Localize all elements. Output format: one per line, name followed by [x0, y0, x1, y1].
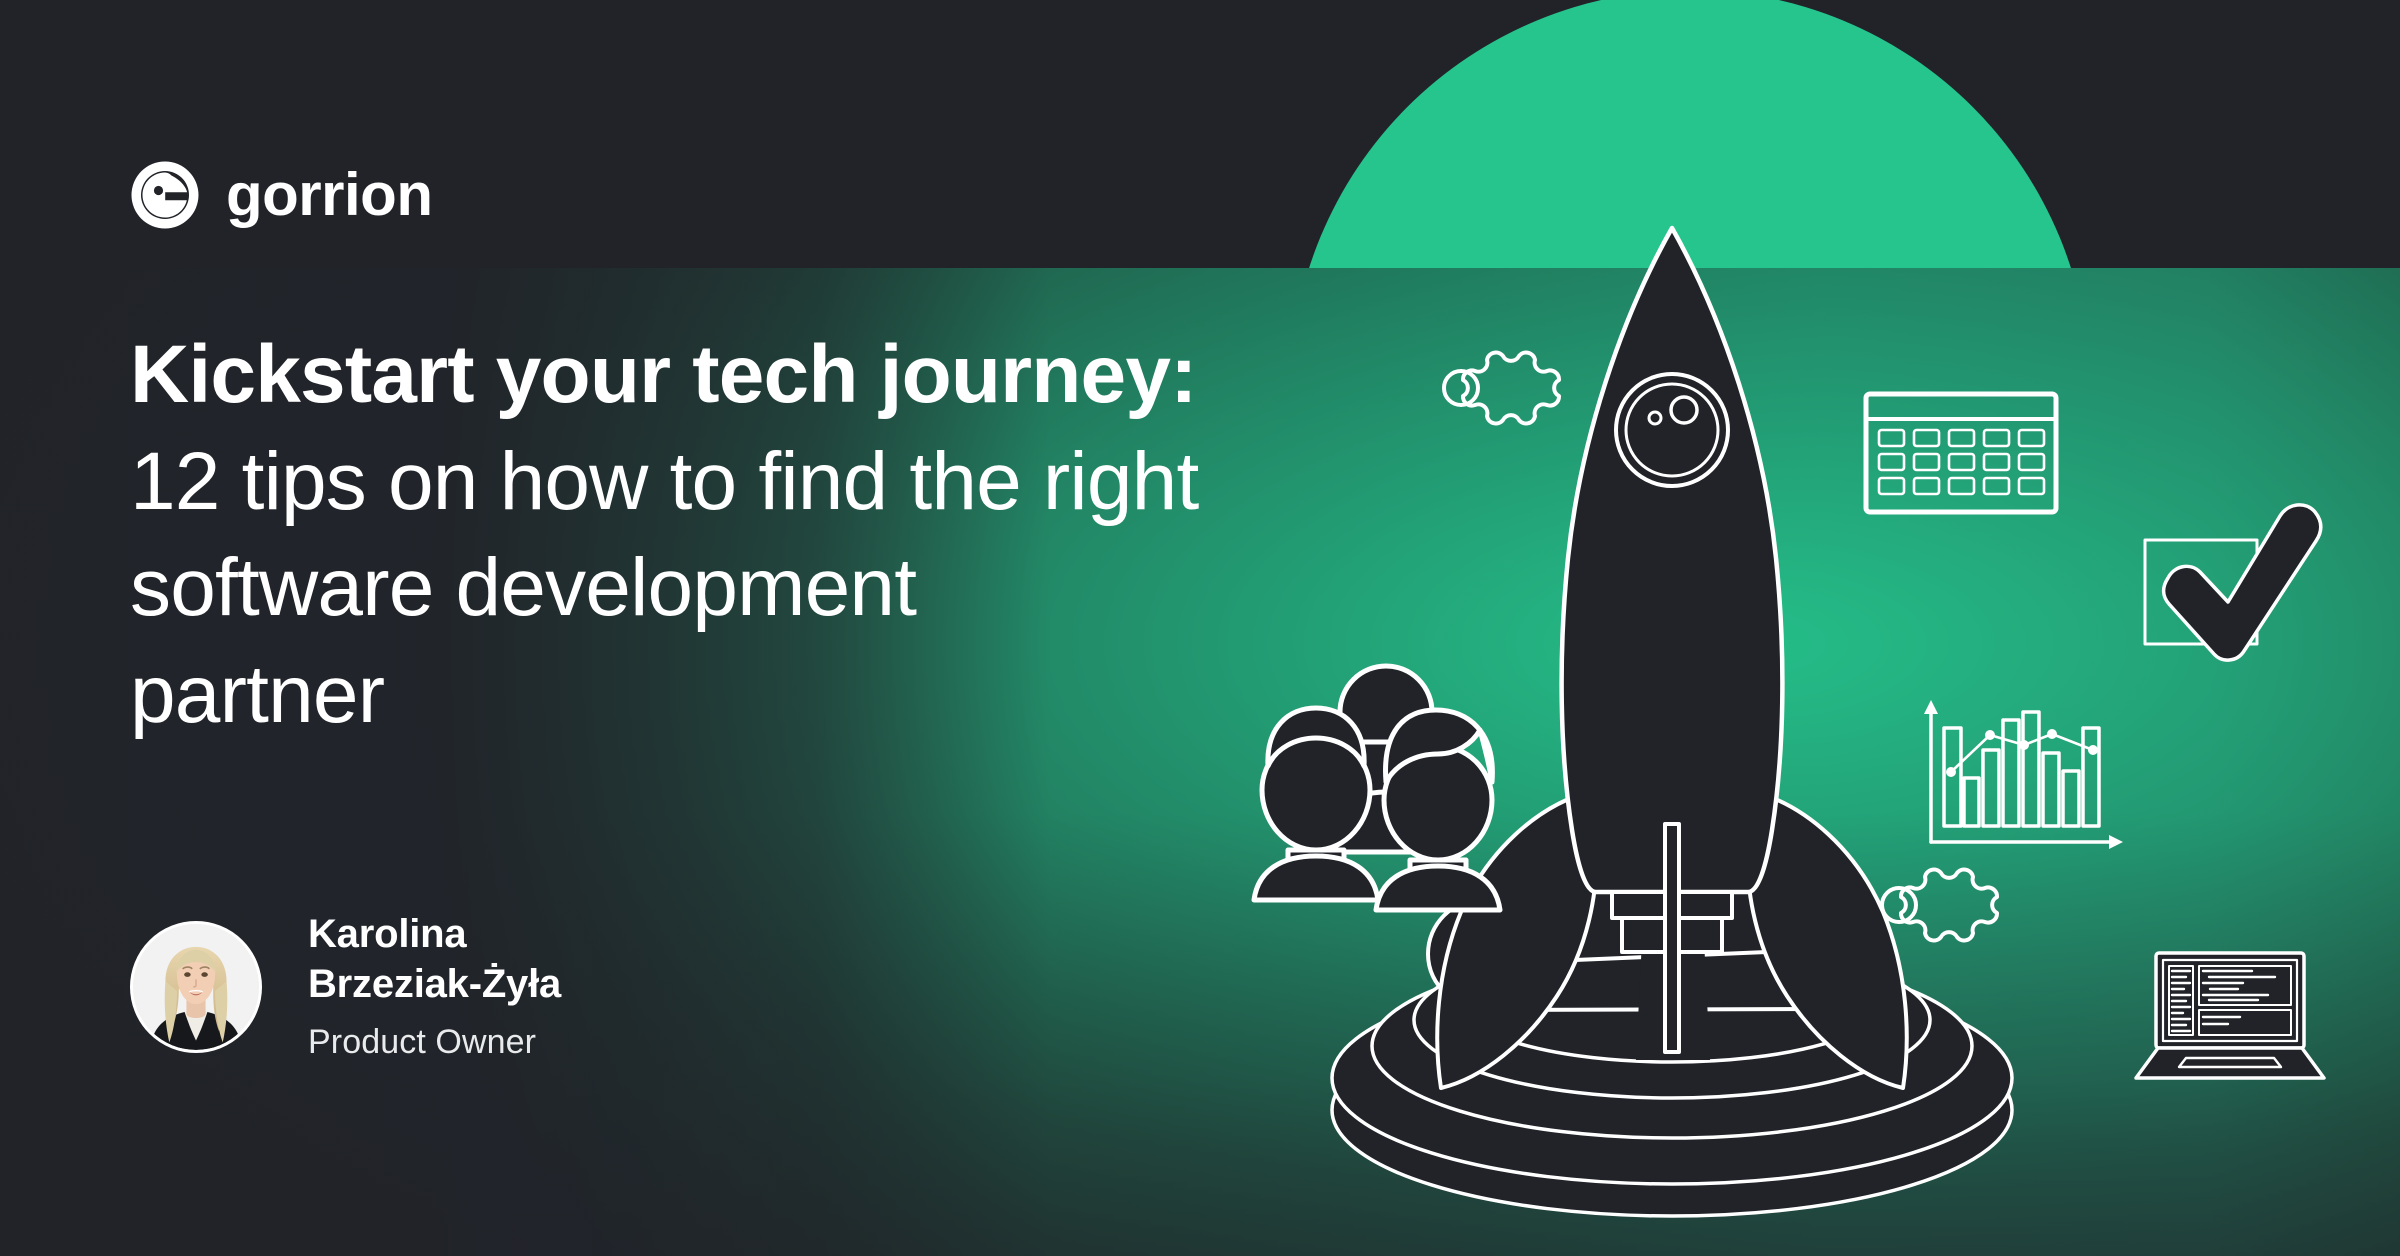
calendar-icon	[1866, 394, 2056, 512]
checkbox-check-icon	[2145, 505, 2321, 660]
author-block: Karolina Brzeziak-Żyła Product Owner	[130, 910, 561, 1064]
brand-logo[interactable]: gorrion	[130, 160, 432, 230]
author-name-line-2: Brzeziak-Żyła	[308, 960, 561, 1010]
author-name-line-1: Karolina	[308, 910, 561, 960]
headline-line-4: partner	[130, 642, 1550, 749]
avatar-portrait-icon	[133, 924, 259, 1050]
author-role: Product Owner	[308, 1021, 561, 1064]
headline-line-2: 12 tips on how to find the right	[130, 429, 1550, 536]
headline-line-3: software development	[130, 535, 1550, 642]
cover-canvas: gorrion Kickstart your tech journey: 12 …	[0, 0, 2400, 1256]
gorrion-bird-g-logo-icon	[130, 160, 200, 230]
bar-chart-icon	[1924, 700, 2123, 849]
gear-icon	[1882, 869, 1997, 940]
headline-line-1: Kickstart your tech journey:	[130, 322, 1550, 429]
laptop-code-icon	[2136, 953, 2324, 1078]
brand-name: gorrion	[226, 165, 432, 225]
avatar	[130, 921, 262, 1053]
author-text: Karolina Brzeziak-Żyła Product Owner	[308, 910, 561, 1064]
page-title: Kickstart your tech journey: 12 tips on …	[130, 322, 1550, 748]
